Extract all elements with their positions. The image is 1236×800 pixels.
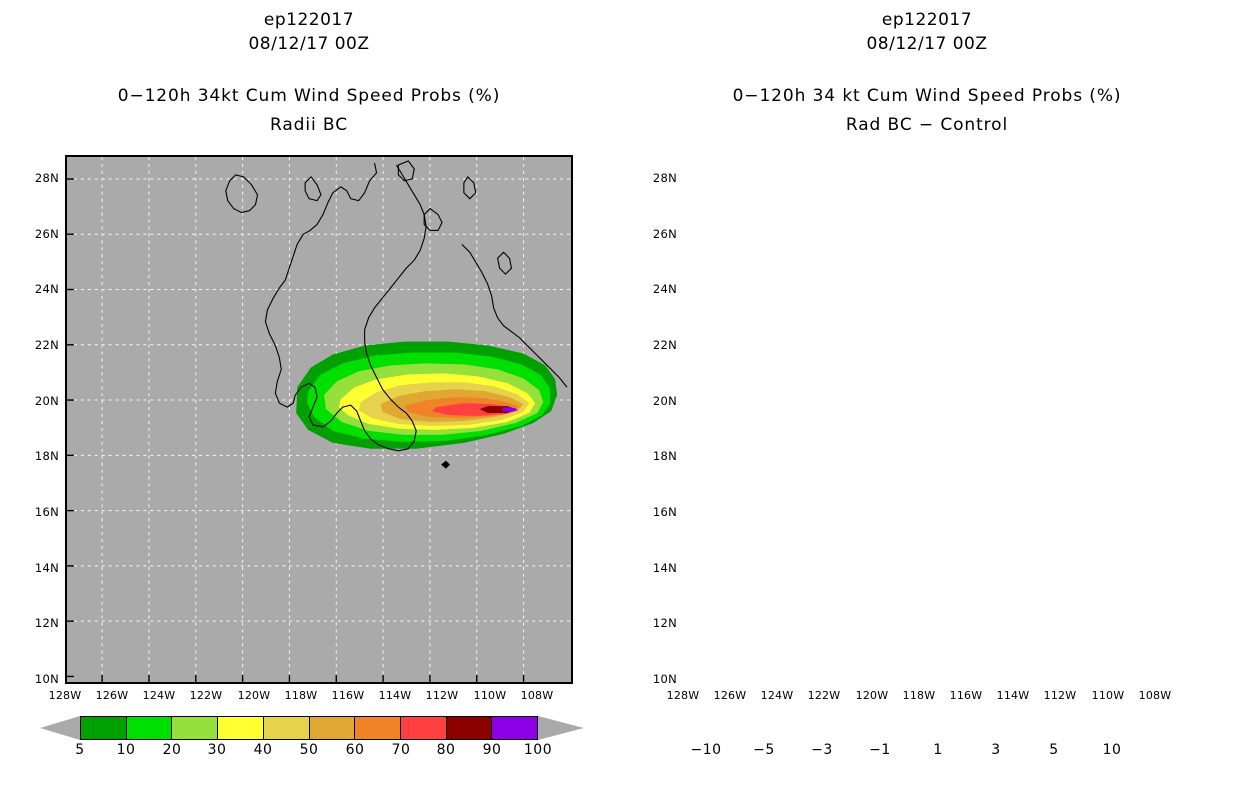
xlabel-right-1: 126W — [707, 689, 753, 702]
ylabel-left-5: 18N — [15, 449, 59, 463]
xlabel-left-2: 124W — [136, 689, 182, 702]
ylabel-right-1: 26N — [633, 227, 677, 241]
colorbar-left-block-3 — [218, 717, 264, 739]
colorbar-left-label-9: 90 — [472, 742, 512, 758]
colorbar-left-label-0: 5 — [60, 742, 100, 758]
colorbar-right-label-3: −1 — [860, 742, 900, 758]
colorbar-left-block-6 — [355, 717, 401, 739]
xlabel-right-7: 114W — [990, 689, 1036, 702]
colorbar-left-block-0 — [81, 717, 127, 739]
colorbar-left-block-9 — [492, 717, 537, 739]
probability-colorbar[interactable] — [80, 716, 538, 740]
colorbar-left-label-3: 30 — [197, 742, 237, 758]
colorbar-left-label-10: 100 — [518, 742, 558, 758]
colorbar-left-label-1: 10 — [106, 742, 146, 758]
colorbar-right-label-4: 1 — [918, 742, 958, 758]
ylabel-left-2: 24N — [15, 282, 59, 296]
xlabel-right-10: 108W — [1132, 689, 1178, 702]
colorbar-left-label-7: 70 — [381, 742, 421, 758]
xlabel-right-6: 116W — [943, 689, 989, 702]
xlabel-right-4: 120W — [849, 689, 895, 702]
storm-id-left: ep122017 — [0, 10, 618, 30]
colorbar-right-label-5: 3 — [976, 742, 1016, 758]
ylabel-right-4: 20N — [633, 394, 677, 408]
ylabel-right-3: 22N — [633, 338, 677, 352]
colorbar-left-arrow-high — [538, 716, 584, 740]
xlabel-right-9: 110W — [1085, 689, 1131, 702]
xlabel-right-8: 112W — [1037, 689, 1083, 702]
xlabel-left-7: 114W — [372, 689, 418, 702]
xlabel-left-6: 116W — [325, 689, 371, 702]
colorbar-right-label-2: −3 — [802, 742, 842, 758]
ylabel-left-9: 10N — [15, 672, 59, 686]
chart-title-right: 0−120h 34 kt Cum Wind Speed Probs (%) — [618, 86, 1236, 106]
colorbar-left-label-8: 80 — [426, 742, 466, 758]
colorbar-left-blocks — [80, 716, 538, 740]
xlabel-left-1: 126W — [89, 689, 135, 702]
colorbar-left-block-2 — [172, 717, 218, 739]
xlabel-left-10: 108W — [514, 689, 560, 702]
colorbar-left-label-2: 20 — [152, 742, 192, 758]
colorbar-left-block-4 — [264, 717, 310, 739]
ylabel-right-9: 10N — [633, 672, 677, 686]
ylabel-left-6: 16N — [15, 505, 59, 519]
xlabel-right-2: 124W — [754, 689, 800, 702]
xlabel-left-4: 120W — [231, 689, 277, 702]
ylabel-left-1: 26N — [15, 227, 59, 241]
ylabel-right-7: 14N — [633, 561, 677, 575]
ylabel-left-0: 28N — [15, 171, 59, 185]
xlabel-left-5: 118W — [278, 689, 324, 702]
ylabel-right-8: 12N — [633, 616, 677, 630]
xlabel-left-9: 110W — [467, 689, 513, 702]
colorbar-right-label-7: 10 — [1092, 742, 1132, 758]
ylabel-left-7: 14N — [15, 561, 59, 575]
colorbar-right-label-0: −10 — [686, 742, 726, 758]
xlabel-left-0: 128W — [42, 689, 88, 702]
ylabel-left-4: 20N — [15, 394, 59, 408]
ylabel-right-2: 24N — [633, 282, 677, 296]
ylabel-right-5: 18N — [633, 449, 677, 463]
forecast-datetime-right: 08/12/17 00Z — [618, 34, 1236, 54]
colorbar-left-block-7 — [401, 717, 447, 739]
colorbar-left-label-6: 60 — [335, 742, 375, 758]
storm-id-right: ep122017 — [618, 10, 1236, 30]
forecast-datetime-left: 08/12/17 00Z — [0, 34, 618, 54]
xlabel-left-8: 112W — [419, 689, 465, 702]
ylabel-left-8: 12N — [15, 616, 59, 630]
xlabel-right-3: 122W — [801, 689, 847, 702]
colorbar-left-arrow-low — [40, 716, 80, 740]
colorbar-left-block-8 — [447, 717, 493, 739]
colorbar-left-label-4: 40 — [243, 742, 283, 758]
xlabel-right-5: 118W — [896, 689, 942, 702]
chart-subtitle-left: Radii BC — [0, 115, 618, 135]
xlabel-right-0: 128W — [660, 689, 706, 702]
colorbar-left-label-5: 50 — [289, 742, 329, 758]
ylabel-left-3: 22N — [15, 338, 59, 352]
chart-subtitle-right: Rad BC − Control — [618, 115, 1236, 135]
colorbar-right-label-1: −5 — [744, 742, 784, 758]
panel-left: ep122017 08/12/17 00Z 0−120h 34kt Cum Wi… — [0, 0, 618, 800]
colorbar-left-block-5 — [310, 717, 356, 739]
panel-right: ep122017 08/12/17 00Z 0−120h 34 kt Cum W… — [618, 0, 1236, 800]
chart-title-left: 0−120h 34kt Cum Wind Speed Probs (%) — [0, 86, 618, 106]
xlabel-left-3: 122W — [183, 689, 229, 702]
map-left-ticks — [67, 157, 571, 682]
ylabel-right-0: 28N — [633, 171, 677, 185]
ylabel-right-6: 16N — [633, 505, 677, 519]
colorbar-left-block-1 — [127, 717, 173, 739]
map-left[interactable] — [65, 155, 573, 684]
colorbar-right-label-6: 5 — [1034, 742, 1074, 758]
